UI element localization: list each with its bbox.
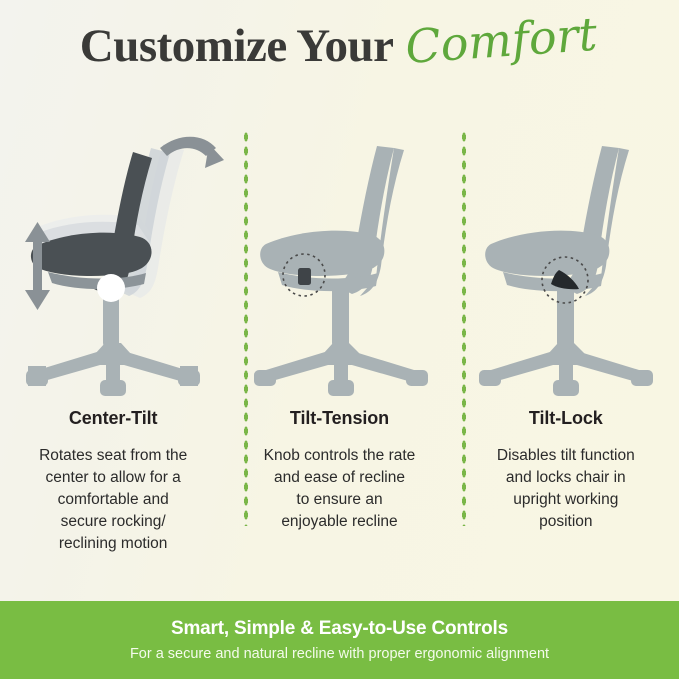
office-chair-tilt-tension-icon xyxy=(226,118,452,398)
office-chair-tilt-lock-icon xyxy=(453,118,679,398)
page-title: Customize Your Comfort xyxy=(0,22,679,92)
feature-columns: Center-Tilt Rotates seat from the center… xyxy=(0,118,679,588)
banner-subtitle: For a secure and natural recline with pr… xyxy=(130,646,549,662)
banner-title: Smart, Simple & Easy-to-Use Controls xyxy=(171,618,508,640)
column-body-center-tilt: Rotates seat from the center to allow fo… xyxy=(13,445,213,555)
feature-column-tilt-lock: Tilt-Lock Disables tilt function and loc… xyxy=(453,118,679,588)
feature-column-tilt-tension: Tilt-Tension Knob controls the rate and … xyxy=(226,118,452,588)
infographic-page: Customize Your Comfort xyxy=(0,0,679,679)
column-body-tilt-lock: Disables tilt function and locks chair i… xyxy=(466,445,666,533)
title-main-text: Customize Your xyxy=(80,23,394,70)
column-body-tilt-tension: Knob controls the rate and ease of recli… xyxy=(239,445,439,533)
pivot-circle-icon xyxy=(97,274,125,302)
chair-illustration-tilt-lock xyxy=(453,118,679,398)
column-heading-tilt-lock: Tilt-Lock xyxy=(529,408,603,429)
title-script-text: Comfort xyxy=(404,11,598,70)
chair-illustration-center-tilt xyxy=(0,118,226,398)
column-heading-center-tilt: Center-Tilt xyxy=(69,408,158,429)
chair-illustration-tilt-tension xyxy=(226,118,452,398)
bottom-banner: Smart, Simple & Easy-to-Use Controls For… xyxy=(0,601,679,679)
tension-knob-icon xyxy=(298,268,311,285)
office-chair-center-tilt-icon xyxy=(0,118,226,398)
feature-column-center-tilt: Center-Tilt Rotates seat from the center… xyxy=(0,118,226,588)
column-heading-tilt-tension: Tilt-Tension xyxy=(290,408,389,429)
